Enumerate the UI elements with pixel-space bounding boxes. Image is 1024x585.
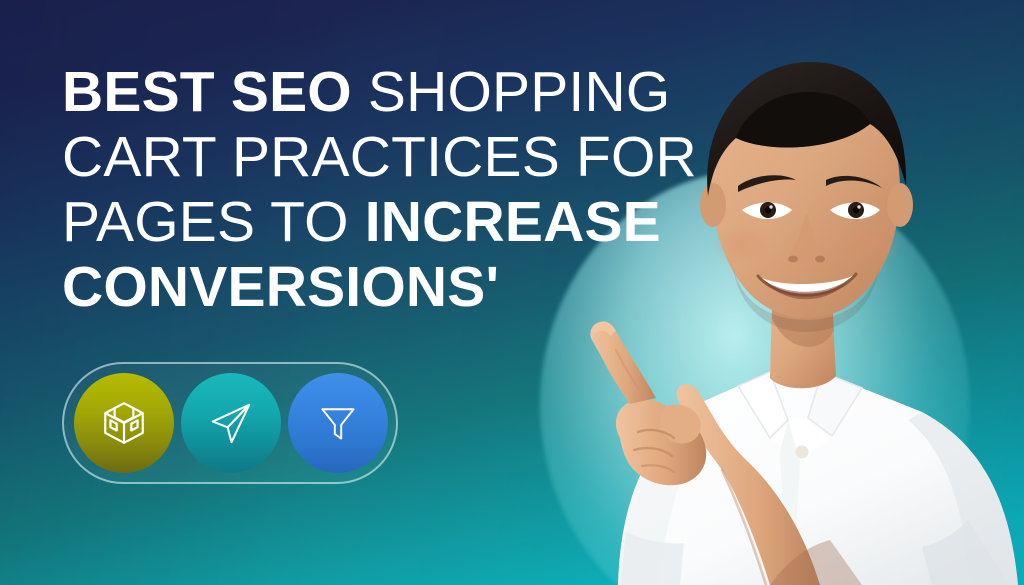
badge-send[interactable] — [181, 373, 281, 473]
seo-hero-banner: BEST SEO SHOPPING CART PRACTICES FOR PAG… — [0, 0, 1024, 585]
paper-plane-icon — [208, 400, 254, 446]
funnel-filter-icon — [316, 401, 360, 445]
badge-package[interactable] — [74, 373, 174, 473]
headline-segment-pages-to: PAGES TO — [62, 190, 365, 254]
badge-filter[interactable] — [288, 373, 388, 473]
headline-segment-conversions: CONVERSIONS' — [62, 255, 499, 319]
headline-line-2: CART PRACTICES FOR — [62, 125, 662, 190]
headline-line-1: BEST SEO SHOPPING — [62, 60, 662, 125]
headline-segment-increase: INCREASE — [365, 190, 661, 254]
headline-segment-cart-practices-for: CART PRACTICES FOR — [62, 125, 697, 189]
page-title: BEST SEO SHOPPING CART PRACTICES FOR PAG… — [62, 60, 662, 320]
headline-line-4: CONVERSIONS' — [62, 255, 662, 320]
icon-badge-group — [62, 362, 398, 484]
shirt-button — [796, 446, 809, 459]
package-box-icon — [99, 398, 149, 448]
headline-segment-shopping: SHOPPING — [352, 60, 671, 124]
headline-segment-best-seo: BEST SEO — [62, 60, 352, 124]
headline-line-3: PAGES TO INCREASE — [62, 190, 662, 255]
